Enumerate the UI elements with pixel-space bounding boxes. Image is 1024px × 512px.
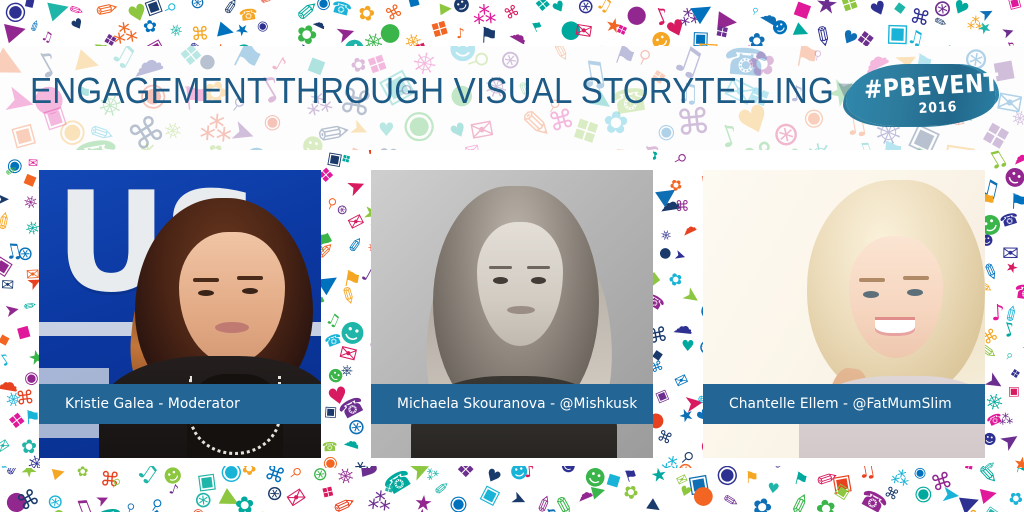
decor-icon: ☁ bbox=[1008, 150, 1024, 168]
decor-icon: ➤ bbox=[1020, 340, 1024, 362]
decor-icon: ⌘ bbox=[653, 324, 670, 347]
decor-icon: ☁ bbox=[506, 23, 531, 46]
decor-icon: ♫ bbox=[855, 138, 877, 150]
decor-icon: ▣ bbox=[886, 20, 910, 45]
decor-icon: ☁ bbox=[440, 146, 471, 150]
mouth-shape bbox=[215, 322, 249, 333]
decor-icon: ♥ bbox=[482, 466, 503, 488]
decor-icon: ☎ bbox=[336, 393, 370, 424]
decor-icon: ♪ bbox=[0, 351, 13, 370]
decor-icon: ⌘ bbox=[675, 200, 690, 215]
decor-icon: ▣ bbox=[692, 30, 710, 46]
decor-icon: ♫ bbox=[605, 144, 638, 150]
decor-icon: ⌕ bbox=[681, 443, 695, 467]
decor-icon: ◉ bbox=[654, 119, 677, 144]
decor-icon: ➤ bbox=[4, 302, 22, 322]
decor-icon: ⊛ bbox=[675, 458, 696, 468]
decor-icon: ▣ bbox=[143, 0, 166, 18]
decor-icon: ➤ bbox=[673, 249, 688, 266]
decor-icon: ♥ bbox=[448, 120, 471, 144]
decor-icon: ✎ bbox=[807, 22, 838, 46]
eyebrow-right bbox=[527, 266, 550, 269]
decor-icon: ★ bbox=[676, 406, 697, 428]
decor-icon: ✎ bbox=[978, 466, 999, 488]
decor-icon: ▶ bbox=[957, 487, 982, 512]
decor-icon: ⚑ bbox=[984, 192, 997, 211]
decor-icon: ◉ bbox=[217, 466, 247, 487]
decor-icon: ♫ bbox=[459, 42, 486, 46]
decor-icon: ♪ bbox=[358, 265, 371, 286]
decor-icon: ◉ bbox=[446, 490, 472, 512]
decor-icon: ▣ bbox=[1007, 0, 1023, 11]
decor-icon: ✐ bbox=[90, 0, 121, 27]
decor-icon: ◆ bbox=[146, 505, 165, 512]
decor-icon: ❖ bbox=[834, 0, 865, 20]
speaker-card-michaela-skouranova[interactable]: Michaela Skouranova - @Mishkusk bbox=[371, 170, 653, 458]
decor-icon: ♫ bbox=[593, 0, 615, 17]
decor-icon: ➤ bbox=[507, 488, 529, 511]
decor-icon: ⊛ bbox=[193, 488, 214, 512]
decor-icon: ♥ bbox=[551, 45, 575, 46]
decor-icon: ❖ bbox=[6, 410, 27, 433]
decor-icon: ⁂ bbox=[473, 3, 498, 28]
decor-icon: ⚑ bbox=[530, 19, 546, 36]
decor-icon: ♪ bbox=[1000, 319, 1018, 341]
decor-icon: ◆ bbox=[893, 0, 907, 16]
decor-icon: ⚑ bbox=[321, 294, 329, 312]
decor-icon: ● bbox=[376, 17, 406, 46]
decor-icon: ✐ bbox=[359, 508, 389, 512]
decor-icon: ♥ bbox=[550, 0, 568, 18]
decor-icon: ✉ bbox=[346, 211, 368, 235]
decor-icon: ♥ bbox=[378, 122, 395, 141]
decor-icon: ⚑ bbox=[1009, 192, 1024, 213]
decor-icon: ✿ bbox=[237, 466, 258, 481]
decor-icon: ✿ bbox=[356, 1, 377, 25]
decor-icon: ▣ bbox=[654, 388, 671, 406]
decor-icon: ▣ bbox=[982, 504, 1000, 512]
decor-icon: ⌘ bbox=[737, 136, 784, 150]
decor-icon: ♫ bbox=[984, 175, 1003, 203]
decor-icon: ✉ bbox=[0, 436, 13, 456]
decor-icon: ♥ bbox=[69, 17, 87, 35]
decor-icon: ▣ bbox=[0, 253, 16, 279]
decor-icon: ⁂ bbox=[207, 44, 232, 46]
decor-icon: ★ bbox=[1003, 259, 1020, 277]
decor-icon: ▶ bbox=[0, 46, 31, 87]
decor-icon: ✎ bbox=[933, 15, 949, 33]
decor-icon: ▶ bbox=[813, 506, 837, 512]
decor-icon: ⎈ bbox=[161, 117, 185, 143]
decor-icon: ☁ bbox=[574, 484, 596, 506]
decor-icon: ✎ bbox=[86, 117, 119, 150]
decor-icon: ☻ bbox=[112, 45, 145, 46]
decor-icon: ⌘ bbox=[908, 6, 932, 30]
decor-icon: ◆ bbox=[661, 508, 688, 512]
name-ribbon: Michaela Skouranova - @Mishkusk bbox=[371, 384, 653, 424]
decor-icon: ♥ bbox=[868, 0, 891, 22]
decor-icon: ⚑ bbox=[1013, 466, 1024, 478]
decor-icon: ● bbox=[198, 51, 217, 72]
decor-icon: ☁ bbox=[311, 15, 329, 33]
decor-icon: ❖ bbox=[711, 21, 735, 46]
decor-icon: ✐ bbox=[329, 491, 357, 512]
decor-icon: ❖ bbox=[340, 140, 377, 150]
decor-icon: ⁂ bbox=[424, 466, 442, 483]
decor-icon: ▶ bbox=[218, 485, 244, 512]
left-border-collage: ◉✉✐✐◆♪➤⎈✎✐⎈⌘♫⊛⚑▣✉☻✉➤●➤✐●◆◆◆♪★◉☁◉☻⎈⌘✿❖⚑⁂✉… bbox=[0, 150, 40, 468]
decor-icon: ⎈ bbox=[333, 466, 357, 488]
decor-icon: ✎ bbox=[547, 46, 572, 68]
decor-icon: ✉ bbox=[337, 342, 360, 367]
decor-icon: ☻ bbox=[581, 466, 609, 491]
decor-icon: ⁂ bbox=[132, 140, 170, 150]
top-border-collage: ◉◆▶✎✐♥▣⌕⊛✐☎✐✐◉☎✿⌘◆▶☻⁂⌘❖♥⊛♫●♪⁂▶▶⌕☁◆★❖♥◆⌘⊛… bbox=[0, 0, 1024, 46]
decor-icon: ◉ bbox=[56, 111, 91, 149]
decor-icon: ♥ bbox=[376, 146, 400, 150]
decor-icon: ✿ bbox=[667, 270, 685, 290]
decor-icon: ● bbox=[232, 38, 257, 46]
decor-icon: ♫ bbox=[906, 28, 927, 46]
decor-icon: ☎ bbox=[70, 133, 122, 150]
decor-icon: ✉ bbox=[283, 484, 310, 512]
decor-icon: ✎ bbox=[189, 40, 207, 46]
decor-icon: ◉ bbox=[911, 480, 937, 507]
decor-icon: ✿ bbox=[749, 493, 775, 512]
decor-icon: ◆ bbox=[405, 0, 425, 11]
decor-icon: ⌘ bbox=[190, 26, 209, 45]
decor-icon: ⎈ bbox=[658, 227, 673, 243]
decor-icon: ● bbox=[624, 1, 650, 29]
decor-icon: ✎ bbox=[67, 0, 86, 20]
decor-icon: ◉ bbox=[714, 466, 740, 488]
decor-icon: ✉ bbox=[28, 157, 38, 169]
decor-icon: ◉ bbox=[688, 144, 728, 150]
decor-icon: ☻ bbox=[557, 466, 577, 478]
decor-icon: ▣ bbox=[8, 119, 39, 150]
speaker-card-kristie-galea[interactable]: US Kristie Galea - Moderator bbox=[39, 170, 321, 458]
decor-icon: ★ bbox=[16, 466, 42, 483]
decor-icon: ✿ bbox=[77, 466, 89, 480]
decor-icon: ☎ bbox=[238, 7, 259, 25]
decor-icon: ❖ bbox=[0, 142, 38, 150]
decor-icon: ⊛ bbox=[343, 414, 368, 441]
decor-icon: ♪ bbox=[716, 119, 744, 150]
decor-icon: ◆ bbox=[653, 347, 664, 363]
gutter-collage-one: ▣❖☎♪❖➤⎈⁂⌕⊛★✐⚑✉☁▶✐✐⎈➤▶⚑♪☎⚑✎♫♥♫☻✉★☎✉⊛▶☻⎈☁✐… bbox=[321, 150, 371, 468]
decor-icon: ♪ bbox=[635, 137, 674, 150]
decor-icon: ➤ bbox=[406, 466, 436, 487]
decor-icon: ☎ bbox=[360, 41, 391, 46]
eye-right bbox=[242, 288, 258, 294]
eyebrow-left bbox=[193, 278, 219, 282]
decor-icon: ✉ bbox=[1001, 243, 1018, 263]
decor-icon: ✐ bbox=[222, 0, 242, 19]
decor-icon: ✎ bbox=[695, 391, 703, 414]
decor-icon: ☎ bbox=[94, 506, 124, 512]
decor-icon: ✿ bbox=[667, 175, 685, 194]
decor-icon: ♥ bbox=[838, 27, 860, 46]
decor-icon: ⎈ bbox=[21, 217, 40, 239]
decor-icon: ● bbox=[656, 245, 673, 263]
decor-icon: ❖ bbox=[381, 481, 398, 498]
decor-icon: ❖ bbox=[534, 0, 553, 15]
decor-icon: ♪ bbox=[1003, 38, 1020, 46]
decor-icon: ♫ bbox=[940, 44, 959, 46]
decor-icon: ★ bbox=[603, 14, 625, 37]
decor-icon: ◆ bbox=[0, 330, 11, 348]
speaker-caption: Michaela Skouranova - @Mishkusk bbox=[397, 384, 637, 424]
decor-icon: ⊛ bbox=[263, 480, 287, 506]
decor-icon: ☎ bbox=[323, 331, 344, 350]
decor-icon: ▣ bbox=[939, 137, 979, 150]
decor-icon: ➤ bbox=[997, 426, 1024, 456]
decor-icon: ⌘ bbox=[984, 326, 1001, 348]
decor-icon: ♪ bbox=[455, 26, 465, 40]
decor-icon: ♫ bbox=[1019, 287, 1024, 307]
decor-icon: ♥ bbox=[693, 405, 703, 426]
decor-icon: ⌘ bbox=[14, 486, 44, 512]
decor-icon: ❖ bbox=[410, 39, 431, 46]
decor-icon: ✿ bbox=[653, 150, 659, 164]
decor-icon: ➤ bbox=[22, 41, 50, 46]
decor-icon: ☻ bbox=[647, 27, 675, 46]
decor-icon: ✐ bbox=[533, 493, 557, 512]
decor-icon: ✿ bbox=[602, 108, 629, 140]
decor-icon: ★ bbox=[600, 507, 632, 512]
decor-icon: ▶ bbox=[590, 481, 607, 501]
speaker-card-chantelle-ellem[interactable]: Chantelle Ellem - @FatMumSlim bbox=[703, 170, 985, 458]
decor-icon: ⊛ bbox=[240, 141, 272, 150]
decor-icon: ➤ bbox=[683, 390, 703, 417]
decor-icon: ⊛ bbox=[768, 114, 802, 150]
decor-icon: ▣ bbox=[832, 481, 853, 502]
decor-icon: ☻ bbox=[449, 0, 473, 17]
decor-icon: ✎ bbox=[722, 492, 741, 512]
eye-left bbox=[863, 291, 879, 298]
decor-icon: ⌕ bbox=[322, 188, 341, 212]
decor-icon: ★ bbox=[26, 346, 40, 369]
decor-icon: ★ bbox=[358, 198, 371, 229]
eye-right bbox=[907, 289, 923, 296]
decor-icon: ☎ bbox=[380, 466, 417, 500]
decor-icon: ⊛ bbox=[309, 466, 331, 486]
decor-icon: ♫ bbox=[323, 310, 342, 330]
decor-icon: ☁ bbox=[0, 371, 21, 397]
decor-icon: ✐ bbox=[3, 466, 24, 480]
decor-icon: ⊛ bbox=[335, 202, 351, 219]
decor-icon: ☎ bbox=[1012, 281, 1024, 304]
decor-icon: ☁ bbox=[658, 191, 683, 216]
decor-icon: ⚑ bbox=[791, 470, 810, 490]
eyebrow-right bbox=[237, 276, 263, 280]
decor-icon: ✎ bbox=[335, 283, 360, 310]
decor-icon: ▶ bbox=[645, 496, 664, 512]
decor-icon: ❖ bbox=[423, 13, 455, 46]
decor-icon: ⚑ bbox=[478, 25, 498, 46]
decor-icon: ✉ bbox=[26, 267, 40, 284]
decor-icon: ⁂ bbox=[677, 5, 701, 29]
decor-icon: ⌘ bbox=[99, 469, 120, 490]
decor-icon: ✉ bbox=[463, 142, 482, 150]
decor-icon: ♪ bbox=[524, 466, 536, 482]
bottom-border-collage: ✐★▶✿⌘⌕♫☻▣◉✿⌘⌕⊛⎈♥☎➤⁂❖♥☻♪☻☻◆⚑★✉▣◉⚑✐⚑✐▣♫⁂◉⌘… bbox=[0, 466, 1024, 512]
decor-icon: ▶ bbox=[653, 179, 681, 209]
decor-icon: ☻ bbox=[984, 433, 998, 449]
decor-icon: ◉ bbox=[23, 368, 39, 386]
decor-icon: ☻ bbox=[324, 366, 346, 388]
decor-icon: ▶ bbox=[321, 266, 342, 296]
decor-icon: ✿ bbox=[292, 19, 321, 46]
decor-icon: ⊛ bbox=[188, 0, 207, 13]
decor-icon: ✐ bbox=[0, 208, 18, 235]
decor-icon: ◉ bbox=[757, 44, 776, 46]
decor-icon: ⊛ bbox=[45, 490, 65, 512]
decor-icon: ✿ bbox=[747, 30, 765, 46]
decor-icon: ❖ bbox=[253, 506, 282, 512]
decor-icon: ♫ bbox=[426, 44, 444, 46]
gutter-collage-two: ✿⌕★◉▶✿⚑⎈☁⌘◉▶⎈☁☁♫●➤♥▣◆✿▶★☎➤●▣⌘☁☻☻◆♥⊛▶⌘✉♥⌘… bbox=[653, 150, 703, 468]
decor-icon: ♥ bbox=[125, 0, 151, 27]
decor-icon: ⌘ bbox=[929, 468, 955, 494]
decor-icon: ⌘ bbox=[15, 389, 36, 410]
decor-icon: ☎ bbox=[998, 210, 1021, 230]
decor-icon: ☻ bbox=[340, 36, 371, 46]
decor-icon: ⚑ bbox=[91, 39, 114, 46]
decor-icon: ◆ bbox=[20, 169, 40, 191]
decor-icon: ☻ bbox=[984, 211, 1007, 242]
decor-icon: ☁ bbox=[757, 2, 786, 31]
decor-icon: ⎈ bbox=[802, 136, 836, 150]
decor-icon: ☻ bbox=[448, 46, 478, 64]
decor-icon: ✐ bbox=[773, 466, 787, 474]
decor-icon: ♪ bbox=[651, 4, 673, 31]
decor-icon: ☎ bbox=[365, 150, 371, 158]
decor-icon: ● bbox=[559, 16, 583, 43]
decor-icon: ⌕ bbox=[1005, 349, 1014, 362]
decor-icon: ☁ bbox=[678, 218, 698, 238]
decor-icon: ⎈ bbox=[359, 27, 387, 46]
decor-icon: ⁂ bbox=[366, 490, 392, 512]
decor-icon: ❖ bbox=[102, 30, 121, 46]
decor-icon: ⎈ bbox=[1010, 106, 1024, 129]
decor-icon: ☻ bbox=[160, 466, 186, 489]
decor-icon: ⚑ bbox=[24, 409, 40, 429]
decor-icon: ● bbox=[687, 479, 718, 511]
decor-icon: ⎈ bbox=[341, 362, 354, 378]
decor-icon: ⌘ bbox=[383, 2, 405, 24]
decor-icon: ➤ bbox=[344, 174, 370, 202]
decor-icon: ✉ bbox=[675, 472, 691, 489]
decor-icon: ▣ bbox=[477, 482, 503, 508]
decor-icon: ◉ bbox=[189, 506, 206, 512]
decor-icon: ⚑ bbox=[294, 42, 317, 46]
decor-icon: ✎ bbox=[550, 493, 578, 512]
decor-icon: ◆ bbox=[382, 40, 409, 46]
decor-icon: ◆ bbox=[788, 0, 816, 24]
decor-icon: ⎈ bbox=[2, 386, 24, 410]
decor-icon: ➤ bbox=[940, 483, 962, 508]
decor-icon: ◉ bbox=[321, 452, 341, 468]
decor-icon: ✐ bbox=[984, 460, 996, 468]
decor-icon: ⌘ bbox=[262, 466, 287, 487]
decor-icon: ➤ bbox=[1014, 147, 1024, 150]
decor-icon: ⊛ bbox=[932, 0, 954, 22]
decor-icon: ◉ bbox=[4, 155, 24, 177]
decor-icon: ⁂ bbox=[620, 42, 648, 46]
decor-icon: ▣ bbox=[686, 471, 711, 497]
decor-icon: ♥ bbox=[677, 484, 693, 501]
decor-icon: ➤ bbox=[1000, 23, 1017, 41]
decor-icon: ♥ bbox=[949, 0, 971, 21]
decor-icon: ★ bbox=[814, 0, 839, 20]
decor-icon: ⌘ bbox=[124, 111, 172, 150]
decor-icon: ✎ bbox=[984, 260, 1002, 285]
decor-icon: ⊛ bbox=[13, 241, 37, 266]
decor-icon: ✐ bbox=[812, 466, 841, 495]
decor-icon: ✉ bbox=[0, 278, 14, 294]
decor-icon: ✿ bbox=[143, 17, 159, 35]
decor-icon: ☎ bbox=[321, 440, 337, 453]
decor-icon: ❖ bbox=[961, 466, 978, 475]
decor-icon: ⌕ bbox=[808, 46, 827, 65]
decor-icon: ✐ bbox=[321, 241, 333, 262]
eye-left bbox=[493, 277, 508, 284]
decor-icon: ♥ bbox=[326, 383, 351, 410]
decor-icon: ☻ bbox=[336, 318, 369, 350]
decor-icon: ⌕ bbox=[123, 497, 140, 512]
decor-icon: ▣ bbox=[143, 37, 168, 46]
slide-root: ▶♪▶♫☁❖●⚑♪◆✿❖⎈☻⌕⊛✎♫⚑⌕♫☎✿⚑⌕☁➤⚑⊛◆☻⌘➤●⚑⎈◉⚑✿⌕… bbox=[0, 0, 1024, 512]
eye-right bbox=[531, 277, 546, 284]
decor-icon: ➤ bbox=[227, 115, 260, 150]
decor-icon: ☻ bbox=[984, 234, 994, 248]
decor-icon: ⌕ bbox=[882, 38, 904, 46]
decor-icon: ❖ bbox=[1009, 367, 1022, 381]
decor-icon: ★ bbox=[1011, 454, 1024, 468]
decor-icon: ▶ bbox=[45, 0, 71, 22]
decor-icon: ★ bbox=[231, 20, 251, 41]
decor-icon: ♫ bbox=[818, 40, 846, 46]
eye-left bbox=[198, 290, 214, 296]
decor-icon: ⌕ bbox=[164, 0, 181, 18]
decor-icon: ❖ bbox=[177, 46, 205, 71]
decor-icon: ♪ bbox=[0, 463, 14, 468]
decor-icon: ⎈ bbox=[26, 451, 40, 468]
decor-icon: ♫ bbox=[2, 239, 25, 264]
decor-icon: ✐ bbox=[4, 165, 18, 181]
mouth-shape bbox=[875, 320, 915, 336]
decor-icon: ▶ bbox=[482, 45, 499, 46]
decor-icon: ☁ bbox=[341, 431, 362, 452]
right-border-collage: ♫☁⁂♫☻⁂⚑⚑★☻☎✉☻✉⊛✎★★✎☎♫♪✐✿⌘♪◉✎⌕➤➤❖⌘⎈▣✿☎⁂✎☻… bbox=[984, 150, 1024, 468]
eyebrow-right bbox=[903, 276, 929, 280]
decor-icon: ☁ bbox=[672, 315, 694, 337]
decor-icon: ▣ bbox=[195, 470, 217, 493]
decor-icon: ▣ bbox=[1008, 385, 1020, 398]
decor-icon: ♪ bbox=[990, 302, 1005, 325]
hashtag-badge: #PBEVENT 2016 bbox=[846, 58, 996, 134]
decor-icon: ➤ bbox=[977, 3, 998, 25]
decor-icon: ◆ bbox=[1017, 67, 1024, 99]
decor-icon: ⚑ bbox=[622, 466, 641, 486]
decor-icon: ◆ bbox=[601, 467, 624, 492]
mouth-shape bbox=[507, 306, 535, 314]
decor-icon: ★ bbox=[411, 507, 430, 512]
decor-icon: ✐ bbox=[20, 298, 38, 316]
decor-icon: ⊛ bbox=[573, 0, 598, 19]
decor-icon: ⌘ bbox=[653, 361, 666, 377]
